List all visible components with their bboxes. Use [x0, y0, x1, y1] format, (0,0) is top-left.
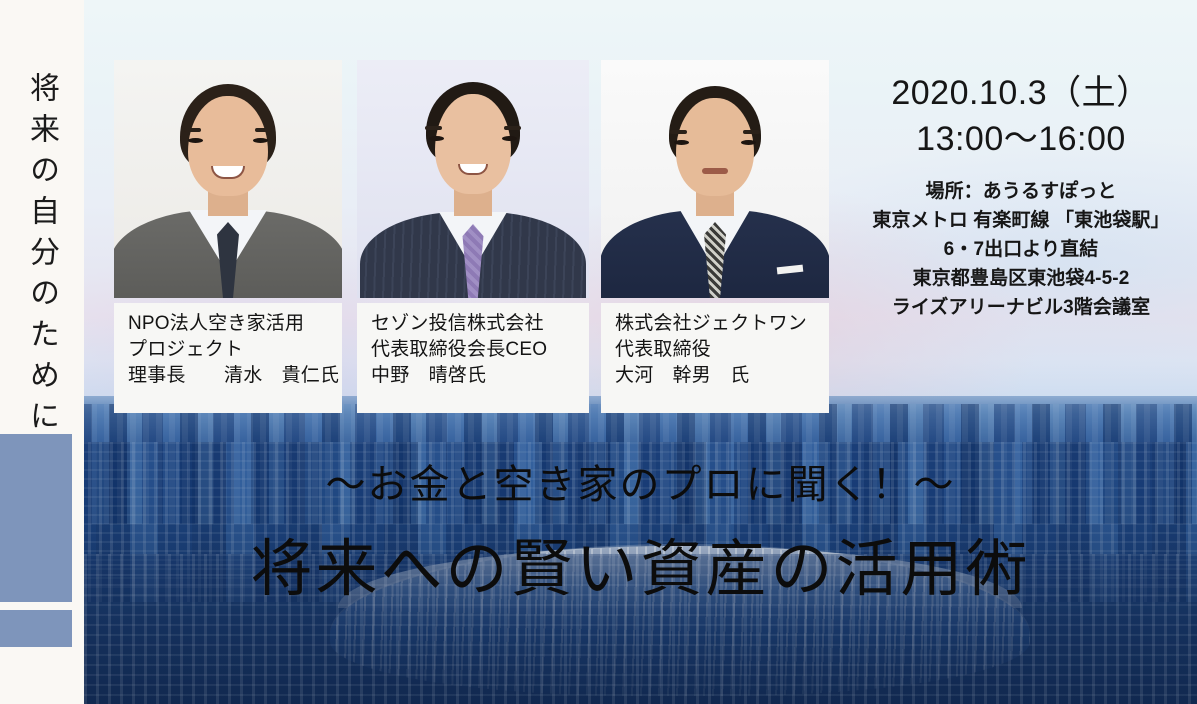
event-venue-details: 場所：あうるすぽっと 東京メトロ 有楽町線 「東池袋駅」 6・7出口より直結 東… [845, 178, 1197, 322]
vertical-tagline: 将来の自分のために [26, 72, 56, 441]
portrait-eye-left [188, 138, 203, 143]
portrait-eyebrow-right [255, 128, 272, 132]
portrait-eye-left [674, 140, 689, 145]
portrait-eyebrow-left [425, 126, 442, 130]
portrait-eyebrow-left [184, 128, 201, 132]
accent-block-upper [0, 434, 72, 602]
portrait-eyebrow-right [504, 126, 521, 130]
speaker-photo-1 [114, 60, 342, 298]
portrait-mouth [702, 168, 728, 174]
portrait-illustration-1 [114, 60, 342, 298]
speaker-photo-3 [601, 60, 829, 298]
event-info-block: 2020.10.3（土） 13:00〜16:00 場所：あうるすぽっと 東京メト… [845, 70, 1197, 323]
event-poster: 将来の自分のために [0, 0, 1197, 704]
accent-block-lower [0, 610, 72, 647]
portrait-eye-right [253, 138, 268, 143]
speaker-caption-1: NPO法人空き家活用 プロジェクト 理事長 清水 貴仁氏 [114, 303, 342, 413]
portrait-eye-right [502, 136, 517, 141]
portrait-eyebrow-left [670, 130, 687, 134]
portrait-eye-left [429, 136, 444, 141]
portrait-eye-right [741, 140, 756, 145]
speaker-photo-2 [357, 60, 589, 298]
portrait-face [188, 96, 268, 196]
portrait-illustration-2 [357, 60, 589, 298]
portrait-face [676, 98, 754, 196]
speaker-caption-3: 株式会社ジェクトワン 代表取締役 大河 幹男 氏 [601, 303, 829, 413]
headline-main-title: 将来への賢い資産の活用術 [84, 518, 1197, 608]
portrait-illustration-3 [601, 60, 829, 298]
event-date-time: 2020.10.3（土） 13:00〜16:00 [845, 70, 1197, 162]
portrait-eyebrow-right [743, 130, 760, 134]
portrait-face [435, 94, 511, 194]
headline-subtitle: 〜お金と空き家のプロに聞く！〜 [84, 452, 1197, 510]
speaker-caption-2: セゾン投信株式会社 代表取締役会長CEO 中野 晴啓氏 [357, 303, 589, 413]
